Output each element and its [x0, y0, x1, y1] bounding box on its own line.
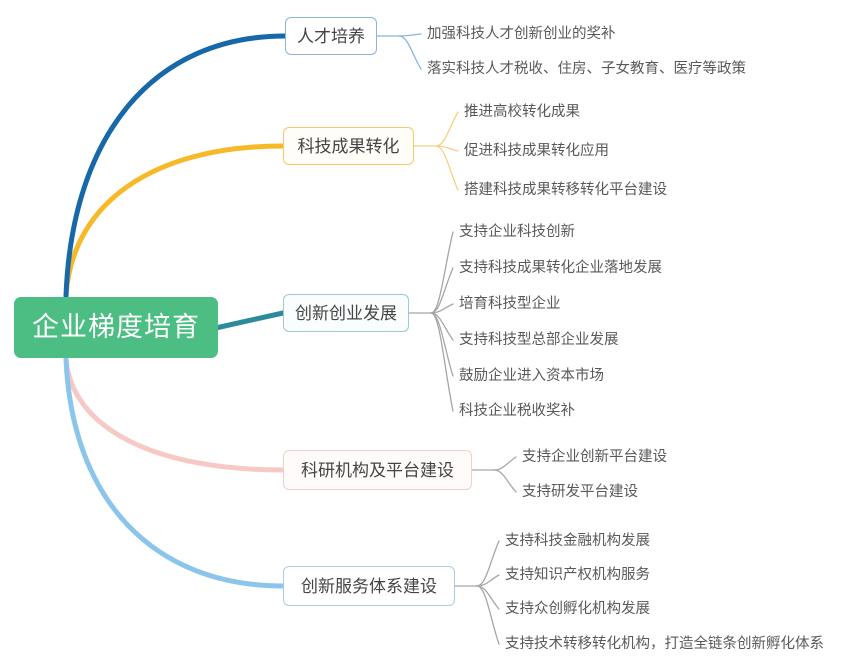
- branch-node[interactable]: 人才培养: [285, 17, 377, 55]
- leaf-label[interactable]: 支持技术转移转化机构，打造全链条创新孵化体系: [505, 637, 824, 652]
- branch-node-label: 创新服务体系建设: [292, 578, 446, 595]
- leaf-edge: [399, 34, 421, 36]
- leaf-label[interactable]: 支持科技成果转化企业落地发展: [459, 261, 662, 276]
- leaf-label[interactable]: 支持企业创新平台建设: [522, 450, 667, 465]
- leaf-edge: [477, 541, 499, 586]
- branch-edge: [66, 36, 285, 296]
- branch-node[interactable]: 创新创业发展: [283, 294, 409, 332]
- leaf-edge: [436, 112, 458, 146]
- leaf-label[interactable]: 落实科技人才税收、住房、子女教育、医疗等政策: [427, 62, 746, 77]
- branch-edge: [218, 313, 283, 328]
- branch-edge: [66, 359, 283, 470]
- branch-node[interactable]: 科研机构及平台建设: [283, 450, 472, 490]
- leaf-edge: [436, 146, 458, 151]
- leaf-edge: [431, 304, 453, 313]
- leaf-label[interactable]: 搭建科技成果转移转化平台建设: [464, 183, 667, 198]
- leaf-edge: [494, 457, 516, 470]
- leaf-edge: [477, 575, 499, 586]
- leaf-label[interactable]: 支持科技金融机构发展: [505, 534, 650, 549]
- leaf-label[interactable]: 科技企业税收奖补: [459, 404, 575, 419]
- leaf-label[interactable]: 加强科技人才创新创业的奖补: [427, 27, 616, 42]
- leaf-edge: [431, 313, 453, 376]
- leaf-label[interactable]: 推进高校转化成果: [464, 105, 580, 120]
- leaf-edge: [477, 586, 499, 644]
- branch-node-label: 人才培养: [288, 28, 374, 45]
- leaf-label[interactable]: 鼓励企业进入资本市场: [459, 369, 604, 384]
- branch-node-label: 科技成果转化: [289, 138, 409, 155]
- leaf-edge: [431, 313, 453, 411]
- root-node[interactable]: 企业梯度培育: [14, 297, 218, 358]
- leaf-label[interactable]: 培育科技型企业: [459, 297, 561, 312]
- leaf-label[interactable]: 支持研发平台建设: [522, 485, 638, 500]
- branch-edge: [66, 146, 283, 296]
- leaf-label[interactable]: 支持企业科技创新: [459, 225, 575, 240]
- branch-node-label: 科研机构及平台建设: [292, 462, 463, 479]
- leaf-edge: [494, 470, 516, 492]
- leaf-edge: [399, 36, 421, 69]
- mind-map-canvas: 企业梯度培育 科技成果转化人才培养创新创业发展科研机构及平台建设创新服务体系建设…: [0, 0, 848, 667]
- leaf-edge: [436, 146, 458, 190]
- leaf-label[interactable]: 支持众创孵化机构发展: [505, 602, 650, 617]
- leaf-label[interactable]: 支持科技型总部企业发展: [459, 333, 619, 348]
- leaf-edge: [431, 268, 453, 313]
- leaf-label[interactable]: 促进科技成果转化应用: [464, 144, 609, 159]
- leaf-edge: [477, 586, 499, 609]
- branch-node[interactable]: 创新服务体系建设: [283, 566, 455, 606]
- branch-node-label: 创新创业发展: [286, 305, 406, 322]
- root-node-label: 企业梯度培育: [32, 314, 200, 341]
- leaf-edge: [431, 232, 453, 313]
- branch-edge: [66, 359, 283, 586]
- leaf-edge: [431, 313, 453, 340]
- leaf-label[interactable]: 支持知识产权机构服务: [505, 568, 650, 583]
- branch-node[interactable]: 科技成果转化: [283, 127, 414, 165]
